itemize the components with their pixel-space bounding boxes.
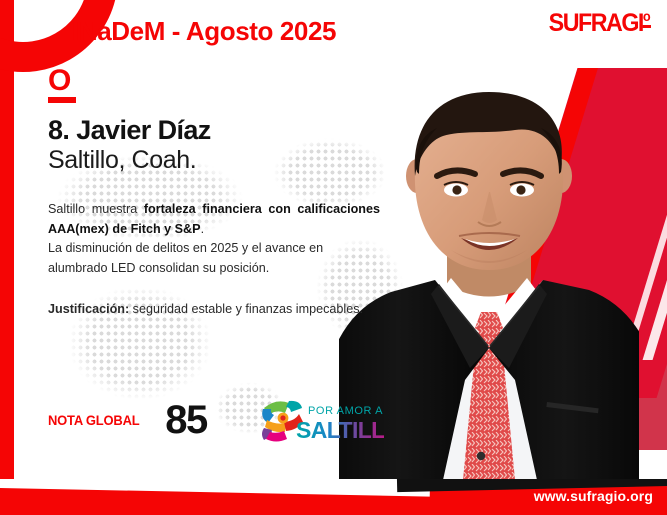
candidate-city: Saltillo, Coah.: [48, 146, 380, 175]
justification-text: seguridad estable y finanzas impecables.: [129, 302, 363, 316]
score-value: 85: [165, 400, 206, 440]
justification-paragraph: Justificación: seguridad estable y finan…: [48, 300, 380, 320]
summary-text-pre: Saltillo muestra: [48, 202, 144, 216]
justification-label: Justificación:: [48, 302, 129, 316]
rank-marker-underline: [48, 97, 76, 103]
por-amor-a-saltillo-logo[interactable]: POR AMOR A SALTILLO: [258, 394, 384, 446]
left-red-band: [0, 0, 14, 515]
candidate-name: 8. Javier Díaz: [48, 115, 380, 145]
summary-text-second-line: La disminución de delitos en 2025 y el a…: [48, 239, 380, 278]
brand-ordinal-o: o: [643, 9, 651, 28]
logo-main-text: SALTILLO: [296, 417, 384, 443]
summary-paragraph: Saltillo muestra fortaleza financiera co…: [48, 200, 380, 278]
global-score: NOTA GLOBAL 85: [48, 400, 207, 440]
profile-content: 8. Javier Díaz Saltillo, Coah. Saltillo …: [48, 115, 380, 320]
rank-marker-glyph: O: [48, 68, 76, 94]
rank-marker: O: [48, 68, 76, 103]
right-white-slash-one: [643, 200, 667, 360]
score-label: NOTA GLOBAL: [48, 413, 139, 428]
page-title: INaDeM - Agosto 2025: [72, 16, 336, 47]
campaign-card: INaDeM - Agosto 2025 SUFRAGIo O 8. Javie…: [0, 0, 667, 515]
summary-text-post: .: [201, 222, 205, 236]
logo-top-text: POR AMOR A: [308, 405, 383, 417]
brand-wordmark: SUFRAGI: [549, 9, 643, 37]
website-url[interactable]: www.sufragio.org: [534, 488, 653, 504]
footer-white-wedge: [0, 479, 430, 497]
candidate-portrait: [339, 80, 639, 480]
footer-bar: www.sufragio.org: [0, 479, 667, 515]
sufragio-logo[interactable]: SUFRAGIo: [549, 9, 651, 38]
